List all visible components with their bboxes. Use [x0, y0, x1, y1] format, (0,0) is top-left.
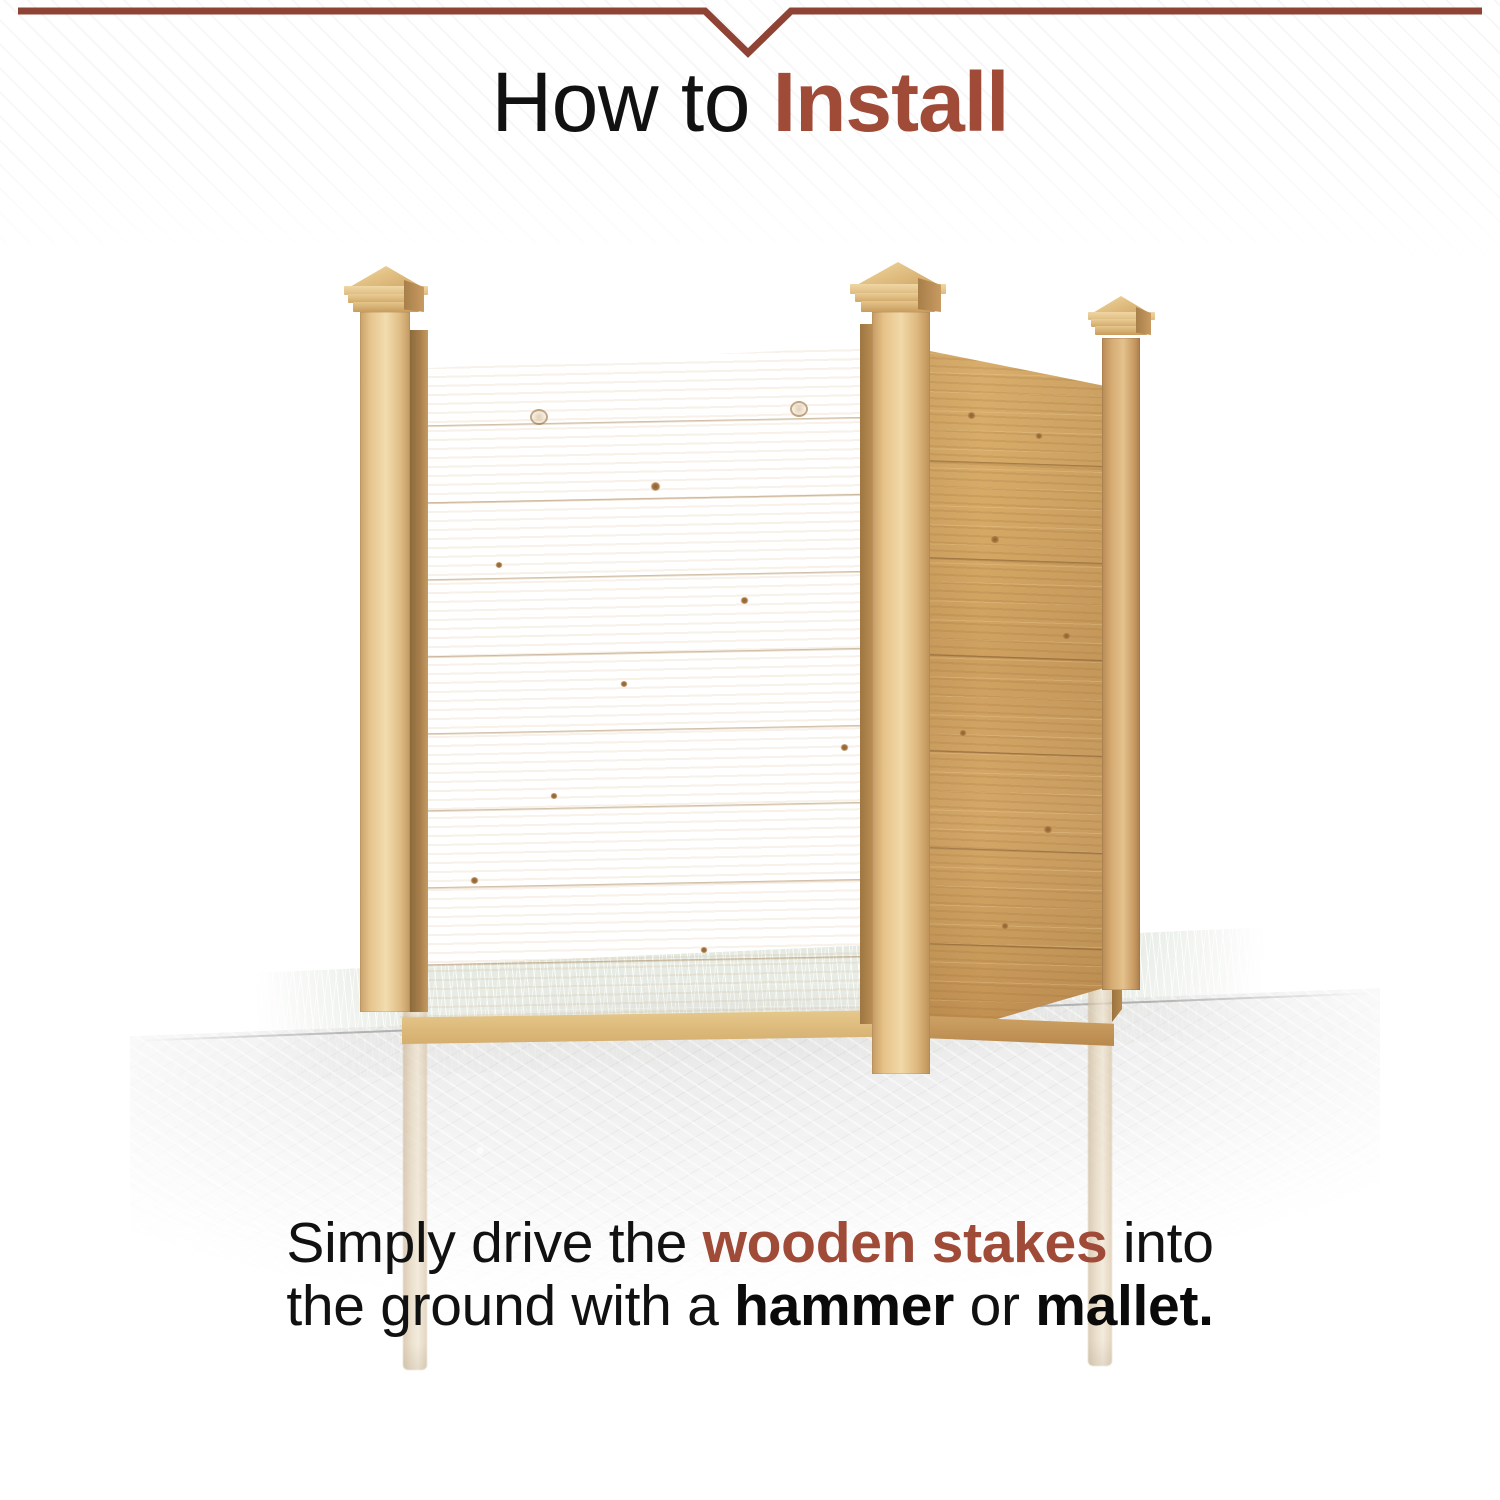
infographic-canvas: How to Install — [0, 0, 1500, 1500]
wood-grain-side — [925, 350, 1115, 1040]
wood-grain-front — [400, 345, 900, 1045]
caption-l1-a: Simply drive the — [286, 1211, 702, 1275]
caption-l2-hammer: hammer — [734, 1274, 954, 1338]
caption: Simply drive the wooden stakes into the … — [0, 1212, 1500, 1338]
post-right-shaft — [1102, 338, 1140, 990]
caption-l1-c: into — [1107, 1211, 1213, 1275]
post-left — [360, 312, 410, 1012]
post-cap-left-icon — [344, 266, 440, 318]
post-cap-mid-icon — [850, 262, 960, 318]
post-mid-shaft — [872, 312, 930, 1074]
post-left-shaft — [360, 312, 410, 1012]
title-plain: How to — [491, 55, 772, 149]
post-mid-side-face — [860, 324, 872, 1024]
page-title: How to Install — [0, 60, 1500, 144]
product-illustration — [0, 250, 1500, 1190]
caption-l2-mallet: mallet. — [1035, 1274, 1213, 1338]
caption-line-2: the ground with a hammer or mallet. — [0, 1275, 1500, 1338]
panel-front — [400, 345, 900, 1045]
caption-line-1: Simply drive the wooden stakes into — [0, 1212, 1500, 1275]
post-mid — [872, 312, 930, 1074]
post-left-side-face — [410, 330, 428, 1012]
panel-side — [925, 350, 1115, 1040]
caption-l2-a: the ground with a — [286, 1274, 734, 1338]
caption-l1-highlight: wooden stakes — [703, 1211, 1108, 1275]
caption-l2-c: or — [954, 1274, 1035, 1338]
title-accent: Install — [773, 55, 1009, 149]
post-right — [1102, 338, 1140, 990]
post-cap-right-icon — [1088, 296, 1168, 344]
